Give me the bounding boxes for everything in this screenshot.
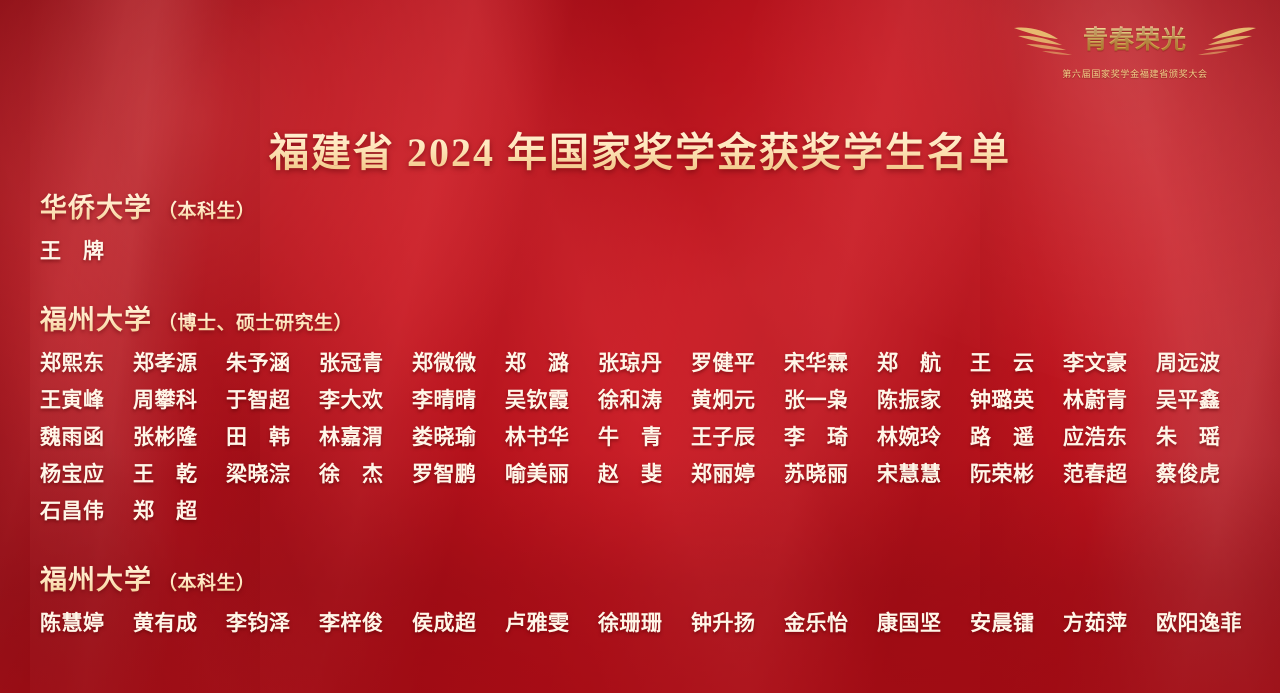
logo-subtitle: 第六届国家奖学金福建省颁奖大会 (1062, 67, 1208, 80)
student-name-row: 杨宝应王 乾梁晓淙徐 杰罗智鹏喻美丽赵 斐郑丽婷苏晓丽宋慧慧阮荣彬范春超蔡俊虎 (40, 458, 1255, 488)
wing-right-icon (1182, 18, 1258, 58)
student-name-row: 石昌伟郑 超 (40, 495, 1255, 525)
student-name-grid: 郑熙东郑孝源朱予涵张冠青郑微微郑 潞张琼丹罗健平宋华霖郑 航王 云李文豪周远波王… (40, 347, 1255, 525)
logo-brand-text: 青春荣光 (1083, 20, 1187, 56)
section-spacer (40, 644, 1255, 670)
student-name-row: 王寅峰周攀科于智超李大欢李晴晴吴钦霞徐和涛黄炯元张一枭陈振家钟璐英林蔚青吴平鑫 (40, 384, 1255, 414)
award-list: 华侨大学（本科生）王 牌福州大学（博士、硕士研究生）郑熙东郑孝源朱予涵张冠青郑微… (40, 186, 1255, 670)
student-name: 周远波 (1156, 347, 1249, 377)
student-name: 郑熙东 (40, 347, 133, 377)
student-name: 田 韩 (226, 421, 319, 451)
student-name: 黄炯元 (691, 384, 784, 414)
student-name: 卢雅雯 (505, 607, 598, 637)
student-name: 徐和涛 (598, 384, 691, 414)
student-name: 金乐怡 (784, 607, 877, 637)
student-name: 郑 超 (133, 495, 226, 525)
slide-stage: 青春荣光 第六届国家奖学金福建省颁奖大会 福建省 2024 年国家奖学金获奖学生… (0, 0, 1280, 693)
student-name-row: 王 牌 (40, 235, 1255, 265)
student-name: 朱 瑶 (1156, 421, 1249, 451)
student-name: 李梓俊 (319, 607, 412, 637)
student-name: 郑 潞 (505, 347, 598, 377)
student-name: 徐珊珊 (598, 607, 691, 637)
student-name-row: 郑熙东郑孝源朱予涵张冠青郑微微郑 潞张琼丹罗健平宋华霖郑 航王 云李文豪周远波 (40, 347, 1255, 377)
wing-left-icon (1012, 18, 1088, 58)
student-name-row: 魏雨函张彬隆田 韩林嘉渭娄晓瑜林书华牛 青王子辰李 琦林婉玲路 遥应浩东朱 瑶 (40, 421, 1255, 451)
degree-level: （本科生） (158, 568, 256, 595)
student-name: 苏晓丽 (784, 458, 877, 488)
school-name: 华侨大学 (40, 186, 152, 225)
student-name: 安晨镭 (970, 607, 1063, 637)
student-name: 李钧泽 (226, 607, 319, 637)
student-name: 郑孝源 (133, 347, 226, 377)
student-name: 王 乾 (133, 458, 226, 488)
student-name: 魏雨函 (40, 421, 133, 451)
student-name: 石昌伟 (40, 495, 133, 525)
school-section: 福州大学（博士、硕士研究生）郑熙东郑孝源朱予涵张冠青郑微微郑 潞张琼丹罗健平宋华… (40, 298, 1255, 525)
student-name: 李晴晴 (412, 384, 505, 414)
student-name: 林婉玲 (877, 421, 970, 451)
student-name: 于智超 (226, 384, 319, 414)
student-name: 朱予涵 (226, 347, 319, 377)
student-name: 钟升扬 (691, 607, 784, 637)
student-name: 王子辰 (691, 421, 784, 451)
school-name: 福州大学 (40, 558, 152, 597)
student-name: 林蔚青 (1063, 384, 1156, 414)
student-name: 宋华霖 (784, 347, 877, 377)
student-name: 李大欢 (319, 384, 412, 414)
student-name: 郑 航 (877, 347, 970, 377)
student-name: 罗健平 (691, 347, 784, 377)
student-name: 牛 青 (598, 421, 691, 451)
student-name: 范春超 (1063, 458, 1156, 488)
student-name: 黄有成 (133, 607, 226, 637)
student-name: 张冠青 (319, 347, 412, 377)
student-name: 方茹萍 (1063, 607, 1156, 637)
student-name: 陈慧婷 (40, 607, 133, 637)
student-name: 吴钦霞 (505, 384, 598, 414)
student-name: 张琼丹 (598, 347, 691, 377)
student-name-grid: 陈慧婷黄有成李钧泽李梓俊侯成超卢雅雯徐珊珊钟升扬金乐怡康国坚安晨镭方茹萍欧阳逸菲 (40, 607, 1255, 637)
student-name: 王 云 (970, 347, 1063, 377)
student-name: 吴平鑫 (1156, 384, 1249, 414)
student-name: 李 琦 (784, 421, 877, 451)
student-name: 路 遥 (970, 421, 1063, 451)
student-name: 李文豪 (1063, 347, 1156, 377)
school-section: 华侨大学（本科生）王 牌 (40, 186, 1255, 265)
student-name: 林书华 (505, 421, 598, 451)
student-name: 赵 斐 (598, 458, 691, 488)
student-name: 陈振家 (877, 384, 970, 414)
student-name: 徐 杰 (319, 458, 412, 488)
degree-level: （博士、硕士研究生） (158, 308, 353, 335)
student-name: 喻美丽 (505, 458, 598, 488)
school-heading: 福州大学（本科生） (40, 558, 1255, 597)
student-name: 欧阳逸菲 (1156, 607, 1249, 637)
student-name: 林嘉渭 (319, 421, 412, 451)
student-name: 张彬隆 (133, 421, 226, 451)
page-title: 福建省 2024 年国家奖学金获奖学生名单 (0, 120, 1280, 178)
student-name: 康国坚 (877, 607, 970, 637)
student-name-grid: 王 牌 (40, 235, 1255, 265)
student-name: 郑微微 (412, 347, 505, 377)
student-name: 王 牌 (40, 235, 133, 265)
event-logo: 青春荣光 第六届国家奖学金福建省颁奖大会 (1012, 12, 1258, 84)
school-section: 福州大学（本科生）陈慧婷黄有成李钧泽李梓俊侯成超卢雅雯徐珊珊钟升扬金乐怡康国坚安… (40, 558, 1255, 637)
student-name: 周攀科 (133, 384, 226, 414)
school-name: 福州大学 (40, 298, 152, 337)
student-name: 侯成超 (412, 607, 505, 637)
section-spacer (40, 272, 1255, 298)
student-name: 蔡俊虎 (1156, 458, 1249, 488)
student-name: 杨宝应 (40, 458, 133, 488)
school-heading: 华侨大学（本科生） (40, 186, 1255, 225)
student-name-row: 陈慧婷黄有成李钧泽李梓俊侯成超卢雅雯徐珊珊钟升扬金乐怡康国坚安晨镭方茹萍欧阳逸菲 (40, 607, 1255, 637)
student-name: 钟璐英 (970, 384, 1063, 414)
student-name: 王寅峰 (40, 384, 133, 414)
logo-mark: 青春荣光 (1012, 12, 1258, 64)
school-heading: 福州大学（博士、硕士研究生） (40, 298, 1255, 337)
student-name: 郑丽婷 (691, 458, 784, 488)
student-name: 梁晓淙 (226, 458, 319, 488)
student-name: 娄晓瑜 (412, 421, 505, 451)
degree-level: （本科生） (158, 196, 256, 223)
student-name: 宋慧慧 (877, 458, 970, 488)
student-name: 张一枭 (784, 384, 877, 414)
student-name: 应浩东 (1063, 421, 1156, 451)
student-name: 罗智鹏 (412, 458, 505, 488)
student-name: 阮荣彬 (970, 458, 1063, 488)
section-spacer (40, 532, 1255, 558)
